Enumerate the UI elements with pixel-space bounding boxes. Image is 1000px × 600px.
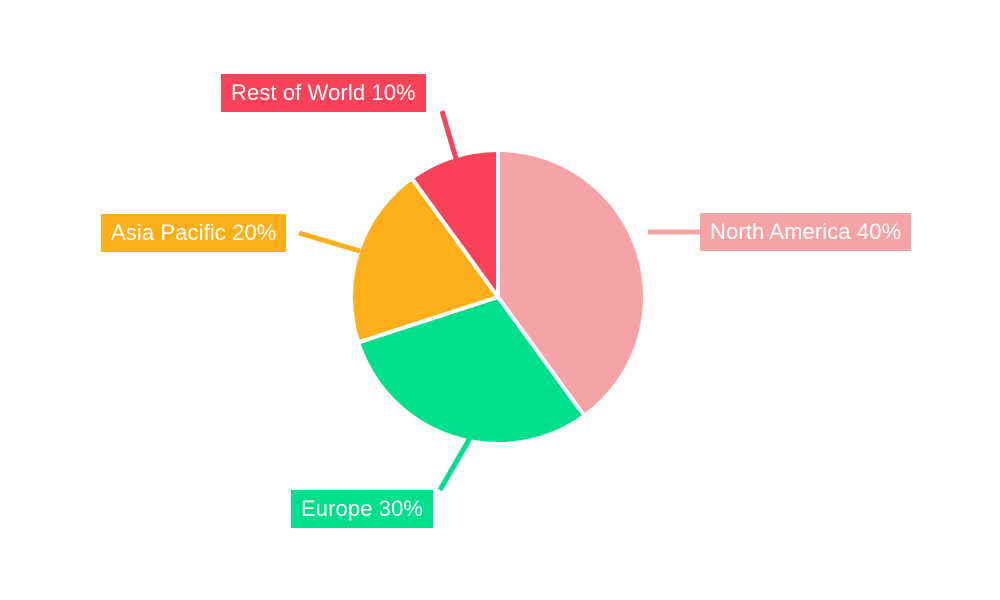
- pie-label-rest-of-world[interactable]: Rest of World 10%: [221, 74, 426, 112]
- pie-chart-canvas: [0, 0, 1000, 600]
- leader-line-asia-pacific: [299, 233, 360, 251]
- pie-label-north-america[interactable]: North America 40%: [700, 213, 911, 251]
- leader-line-europe: [440, 438, 470, 490]
- pie-label-asia-pacific-text: Asia Pacific 20%: [111, 222, 276, 244]
- leader-line-rest-of-world: [442, 111, 457, 162]
- pie-chart: North America 40% Europe 30% Asia Pacifi…: [0, 0, 1000, 600]
- pie-label-rest-of-world-text: Rest of World 10%: [231, 82, 416, 104]
- pie-label-europe[interactable]: Europe 30%: [291, 490, 433, 528]
- pie-label-europe-text: Europe 30%: [301, 498, 423, 520]
- pie-label-north-america-text: North America 40%: [710, 221, 901, 243]
- pie-label-asia-pacific[interactable]: Asia Pacific 20%: [101, 214, 286, 252]
- pie-slices: [351, 150, 645, 444]
